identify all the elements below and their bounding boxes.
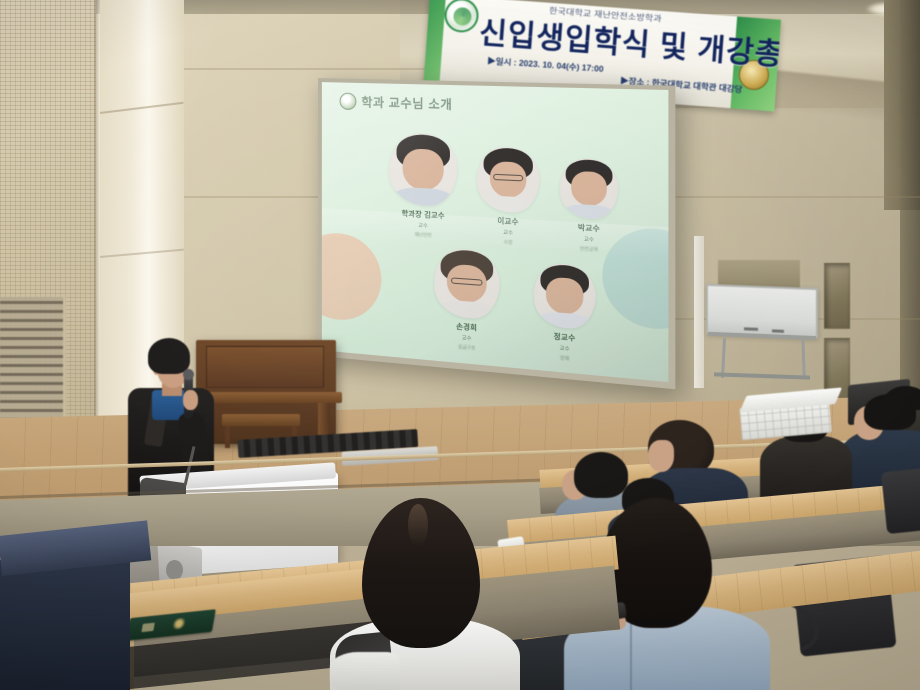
- university-emblem-icon: [443, 0, 479, 34]
- face-shape: [648, 440, 674, 472]
- whiteboard-marker: [772, 329, 784, 332]
- whiteboard-on-stand: [706, 284, 818, 338]
- wall-pillar: [694, 236, 704, 388]
- shoulders-shape: [564, 203, 615, 220]
- shoulders-shape: [538, 311, 592, 331]
- hair-shape: [864, 394, 916, 430]
- piano-front-panel: [206, 346, 324, 388]
- projection-screen: 학과 교수님 소개 학과장 김교수 교수 재난안전: [318, 78, 675, 389]
- notebook-label: [141, 623, 154, 632]
- faculty-card: 정교수 교수 방재: [521, 261, 609, 366]
- presenter-hand: [183, 390, 198, 410]
- wall-niche: [824, 263, 850, 329]
- face-shape: [403, 149, 444, 191]
- white-plastic-crate: [738, 388, 843, 441]
- white-cloth: [330, 652, 400, 690]
- hair-part: [408, 504, 428, 546]
- face-shape: [546, 277, 583, 315]
- slide-title-row: 학과 교수님 소개: [340, 93, 453, 113]
- piano-bench: [222, 414, 300, 426]
- faculty-photo: [434, 247, 499, 320]
- microphone-head-icon: [183, 369, 194, 380]
- floor-dark-area: [0, 560, 130, 690]
- auditorium-photo: 한국대학교 재난안전소방학과 신입생입학식 및 개강총회 ▶일시 : 2023.…: [0, 0, 920, 690]
- shoulders-shape: [481, 195, 536, 214]
- shoulders-shape: [438, 299, 495, 320]
- chair: [881, 468, 920, 534]
- jacket-seam: [630, 616, 632, 690]
- slide-surface: 학과 교수님 소개 학과장 김교수 교수 재난안전: [322, 82, 669, 382]
- faculty-photo: [534, 262, 596, 330]
- faculty-card: 손경희 교수 응급구조: [422, 247, 512, 356]
- whiteboard-marker: [744, 327, 758, 331]
- lectern-base-knob: [166, 560, 183, 580]
- slide-decoration-orange: [322, 231, 381, 324]
- right-wall-strip: [900, 0, 920, 430]
- faculty-photo: [560, 158, 618, 221]
- shoulders-shape: [393, 187, 453, 208]
- slide-badge-icon: [340, 93, 357, 111]
- faculty-photo: [389, 133, 457, 208]
- presenter-hair: [148, 338, 190, 374]
- faculty-photo: [477, 146, 539, 214]
- notebook-emblem-icon: [171, 617, 187, 630]
- face-shape: [572, 171, 607, 206]
- slide-title: 학과 교수님 소개: [361, 93, 452, 113]
